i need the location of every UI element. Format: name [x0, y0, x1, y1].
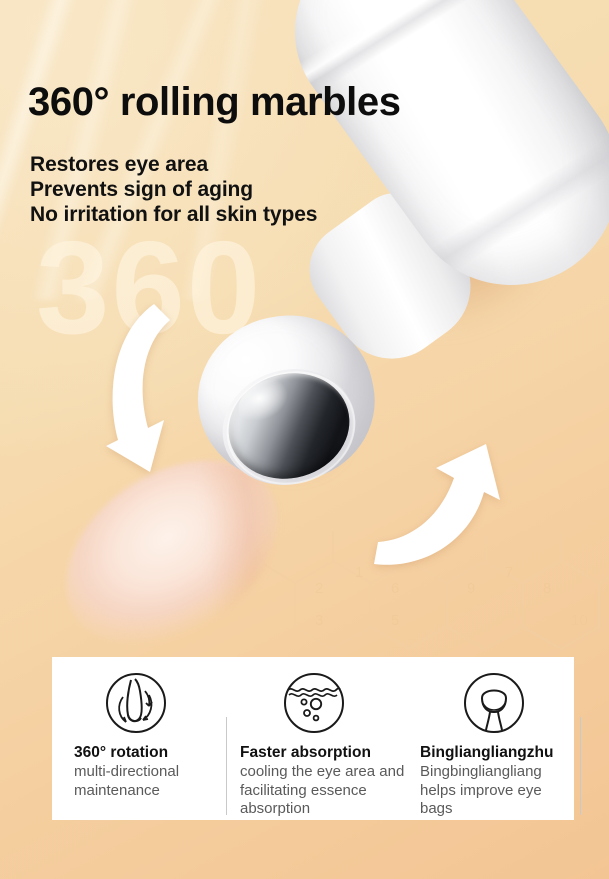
feature-description: multi-directional maintenance — [74, 763, 226, 800]
panel-divider-2 — [580, 717, 581, 815]
feature-title: Faster absorption — [240, 743, 406, 762]
feature-title: 360° rotation — [74, 743, 226, 762]
product-marketing-image: 360 2 3 1 6 5 9 7 8 10 — [0, 0, 609, 879]
benefit-line-2: Prevents sign of aging — [30, 177, 317, 202]
feature-description: Bingbingliangliang helps improve eye bag… — [420, 763, 574, 819]
feature-panel: 360° rotation multi-directional maintena… — [52, 657, 574, 820]
page-title: 360° rolling marbles — [28, 80, 401, 125]
feature-title: Bingliangliangzhu — [420, 743, 574, 762]
feature-column-rotation: 360° rotation multi-directional maintena… — [52, 657, 226, 820]
benefit-list: Restores eye area Prevents sign of aging… — [30, 152, 317, 227]
benefit-line-1: Restores eye area — [30, 152, 317, 177]
benefit-line-3: No irritation for all skin types — [30, 202, 317, 227]
feature-description: cooling the eye area and facilitating es… — [240, 763, 406, 819]
feature-column-absorption: Faster absorption cooling the eye area a… — [226, 657, 406, 820]
feature-column-bingliangliangzhu: Bingliangliangzhu Bingbingliangliang hel… — [406, 657, 574, 820]
water-bubbles-icon — [282, 671, 346, 735]
rotation-roller-icon — [104, 671, 168, 735]
roller-ball-head-icon — [462, 671, 526, 735]
